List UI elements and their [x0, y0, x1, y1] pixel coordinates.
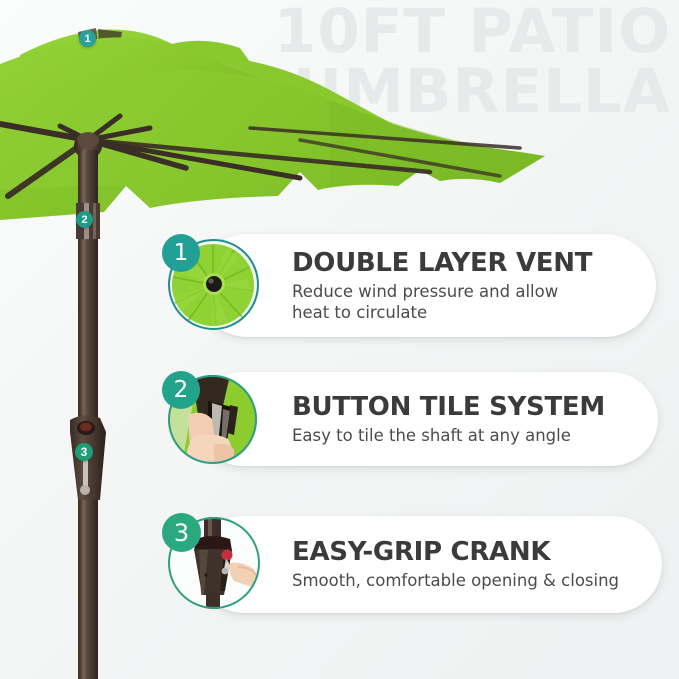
- feature-card-3-title: EASY-GRIP CRANK: [292, 537, 619, 567]
- feature-badge-3[interactable]: 3: [162, 513, 201, 552]
- feature-card-1-title: DOUBLE LAYER VENT: [292, 248, 592, 278]
- feature-card-1-description: Reduce wind pressure and allow heat to c…: [292, 282, 592, 322]
- feature-card-3-text: EASY-GRIP CRANK Smooth, comfortable open…: [292, 537, 637, 591]
- photo-marker-2[interactable]: 2: [76, 211, 93, 228]
- feature-badge-2-label: 2: [174, 377, 189, 403]
- feature-card-2-description: Easy to tile the shaft at any angle: [292, 426, 605, 446]
- photo-marker-1-label: 1: [84, 33, 90, 45]
- feature-card-1[interactable]: DOUBLE LAYER VENT Reduce wind pressure a…: [196, 234, 656, 337]
- feature-card-3-description: Smooth, comfortable opening & closing: [292, 571, 619, 591]
- photo-marker-2-label: 2: [81, 214, 87, 226]
- feature-badge-3-label: 3: [174, 519, 189, 547]
- feature-card-1-text: DOUBLE LAYER VENT Reduce wind pressure a…: [292, 248, 610, 322]
- feature-card-2[interactable]: BUTTON TILE SYSTEM Easy to tile the shaf…: [196, 372, 658, 466]
- feature-card-2-title: BUTTON TILE SYSTEM: [292, 392, 605, 422]
- photo-marker-1[interactable]: 1: [79, 30, 96, 47]
- feature-badge-1-label: 1: [174, 240, 189, 266]
- photo-marker-3[interactable]: 3: [75, 443, 93, 461]
- feature-list: DOUBLE LAYER VENT Reduce wind pressure a…: [0, 0, 679, 679]
- feature-card-2-text: BUTTON TILE SYSTEM Easy to tile the shaf…: [292, 392, 623, 446]
- feature-badge-2[interactable]: 2: [162, 371, 200, 409]
- feature-card-3[interactable]: EASY-GRIP CRANK Smooth, comfortable open…: [196, 516, 662, 613]
- infographic-canvas: 10FT PATIO UMBRELLA: [0, 0, 679, 679]
- feature-badge-1[interactable]: 1: [162, 234, 200, 272]
- photo-marker-3-label: 3: [81, 445, 88, 459]
